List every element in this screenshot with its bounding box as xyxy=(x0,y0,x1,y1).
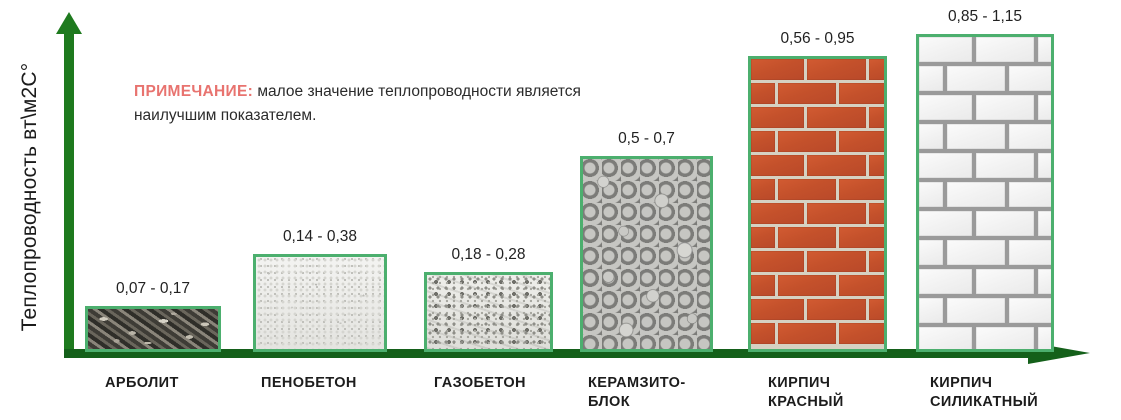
brick xyxy=(869,203,887,224)
bar-box-keramzito-blok xyxy=(580,156,713,352)
arrow-up-icon xyxy=(56,12,82,34)
bar-value-kirpich-silikatnyy: 0,85 - 1,15 xyxy=(916,8,1054,26)
bar-label-gazobeton: ГАЗОБЕТОН xyxy=(434,374,526,393)
brick xyxy=(751,203,804,224)
brick xyxy=(919,66,943,91)
brick-row xyxy=(751,299,884,320)
brick-row xyxy=(919,211,1051,236)
brick xyxy=(1009,124,1054,149)
brick xyxy=(807,251,866,272)
brick xyxy=(919,211,972,236)
brick xyxy=(919,269,972,294)
brick xyxy=(839,179,887,200)
brick xyxy=(751,155,804,176)
brick xyxy=(919,153,972,178)
bar-kirpich-silikatnyy: 0,85 - 1,15 КИРПИЧ СИЛИКАТНЫЙ xyxy=(916,0,1054,420)
brick xyxy=(976,269,1034,294)
bar-box-kirpich-silikatnyy xyxy=(916,34,1054,352)
brick xyxy=(778,131,837,152)
bar-penobeton: 0,14 - 0,38 ПЕНОБЕТОН xyxy=(253,0,387,420)
brick xyxy=(869,251,887,272)
bar-kirpich-krasnyy: 0,56 - 0,95 КИРПИЧ КРАСНЫЙ xyxy=(748,0,887,420)
brick-row xyxy=(919,269,1051,294)
bar-value-keramzito-blok: 0,5 - 0,7 xyxy=(580,130,713,148)
brick xyxy=(1009,182,1054,207)
brick-row xyxy=(751,203,884,224)
brick xyxy=(1038,95,1054,120)
brick xyxy=(976,327,1034,352)
bar-value-arbolit: 0,07 - 0,17 xyxy=(85,280,221,298)
brick xyxy=(1038,211,1054,236)
expanded-clay-texture xyxy=(583,159,710,349)
brick xyxy=(1038,327,1054,352)
brick-row xyxy=(751,179,884,200)
brick xyxy=(919,327,972,352)
wood-chip-texture xyxy=(88,309,218,349)
brick xyxy=(919,182,943,207)
brick-row xyxy=(919,95,1051,120)
bar-box-penobeton xyxy=(253,254,387,352)
brick xyxy=(1009,298,1054,323)
bar-arbolit: 0,07 - 0,17 АРБОЛИТ xyxy=(85,0,221,420)
brick xyxy=(1038,269,1054,294)
brick xyxy=(751,227,775,248)
brick xyxy=(807,203,866,224)
brick xyxy=(919,95,972,120)
brick xyxy=(947,240,1005,265)
bar-value-kirpich-krasnyy: 0,56 - 0,95 xyxy=(748,30,887,48)
brick xyxy=(839,275,887,296)
brick xyxy=(807,155,866,176)
brick xyxy=(839,323,887,344)
brick xyxy=(839,83,887,104)
brick xyxy=(807,299,866,320)
brick xyxy=(947,66,1005,91)
bar-box-gazobeton xyxy=(424,272,553,352)
brick-row xyxy=(919,182,1051,207)
bar-label-keramzito-blok: КЕРАМЗИТО- БЛОК xyxy=(588,374,686,412)
brick-row xyxy=(751,155,884,176)
red-brick-texture xyxy=(751,59,884,349)
brick xyxy=(976,95,1034,120)
bar-box-kirpich-krasnyy xyxy=(748,56,887,352)
brick xyxy=(1009,240,1054,265)
brick xyxy=(839,227,887,248)
brick xyxy=(751,323,775,344)
brick-row xyxy=(751,251,884,272)
bar-box-arbolit xyxy=(85,306,221,352)
brick xyxy=(778,275,837,296)
thermal-conductivity-chart: Теплопроводность вт\м2C° ПРИМЕЧАНИЕ: мал… xyxy=(0,0,1121,420)
brick-row xyxy=(751,275,884,296)
brick xyxy=(947,182,1005,207)
brick xyxy=(976,37,1034,62)
brick xyxy=(1009,66,1054,91)
brick xyxy=(751,275,775,296)
brick xyxy=(751,299,804,320)
brick-row xyxy=(751,107,884,128)
brick xyxy=(751,59,804,80)
brick xyxy=(869,299,887,320)
brick-row xyxy=(919,66,1051,91)
brick xyxy=(807,107,866,128)
brick xyxy=(807,59,866,80)
brick xyxy=(869,155,887,176)
bar-label-penobeton: ПЕНОБЕТОН xyxy=(261,374,357,393)
brick xyxy=(947,124,1005,149)
brick-row xyxy=(919,240,1051,265)
brick xyxy=(919,298,943,323)
brick xyxy=(751,131,775,152)
brick xyxy=(839,131,887,152)
y-axis-title: Теплопроводность вт\м2C° xyxy=(18,7,42,387)
brick-row xyxy=(919,153,1051,178)
brick xyxy=(751,107,804,128)
brick xyxy=(869,107,887,128)
bar-label-kirpich-silikatnyy: КИРПИЧ СИЛИКАТНЫЙ xyxy=(930,374,1038,412)
brick xyxy=(869,59,887,80)
bar-label-arbolit: АРБОЛИТ xyxy=(105,374,179,393)
brick xyxy=(778,83,837,104)
bar-value-penobeton: 0,14 - 0,38 xyxy=(253,228,387,246)
bar-gazobeton: 0,18 - 0,28 ГАЗОБЕТОН xyxy=(424,0,553,420)
brick-row xyxy=(919,37,1051,62)
bar-label-kirpich-krasnyy: КИРПИЧ КРАСНЫЙ xyxy=(768,374,844,412)
brick xyxy=(751,83,775,104)
brick-row xyxy=(751,323,884,344)
bar-value-gazobeton: 0,18 - 0,28 xyxy=(424,246,553,264)
brick xyxy=(751,179,775,200)
brick-row xyxy=(919,327,1051,352)
brick-row xyxy=(751,227,884,248)
brick xyxy=(976,211,1034,236)
brick xyxy=(1038,153,1054,178)
brick xyxy=(919,37,972,62)
brick xyxy=(947,298,1005,323)
brick-row xyxy=(751,83,884,104)
foam-concrete-texture xyxy=(256,257,384,349)
brick xyxy=(751,251,804,272)
brick xyxy=(778,227,837,248)
brick xyxy=(778,323,837,344)
y-axis-line xyxy=(64,30,74,355)
brick xyxy=(919,124,943,149)
brick-row xyxy=(919,124,1051,149)
bar-keramzito-blok: 0,5 - 0,7 КЕРАМЗИТО- БЛОК xyxy=(580,0,713,420)
brick-row xyxy=(751,59,884,80)
brick xyxy=(976,153,1034,178)
brick xyxy=(1038,37,1054,62)
silicate-brick-texture xyxy=(919,37,1051,349)
brick-row xyxy=(751,131,884,152)
brick xyxy=(778,179,837,200)
brick xyxy=(919,240,943,265)
brick-row xyxy=(919,298,1051,323)
aerated-concrete-texture xyxy=(427,275,550,349)
